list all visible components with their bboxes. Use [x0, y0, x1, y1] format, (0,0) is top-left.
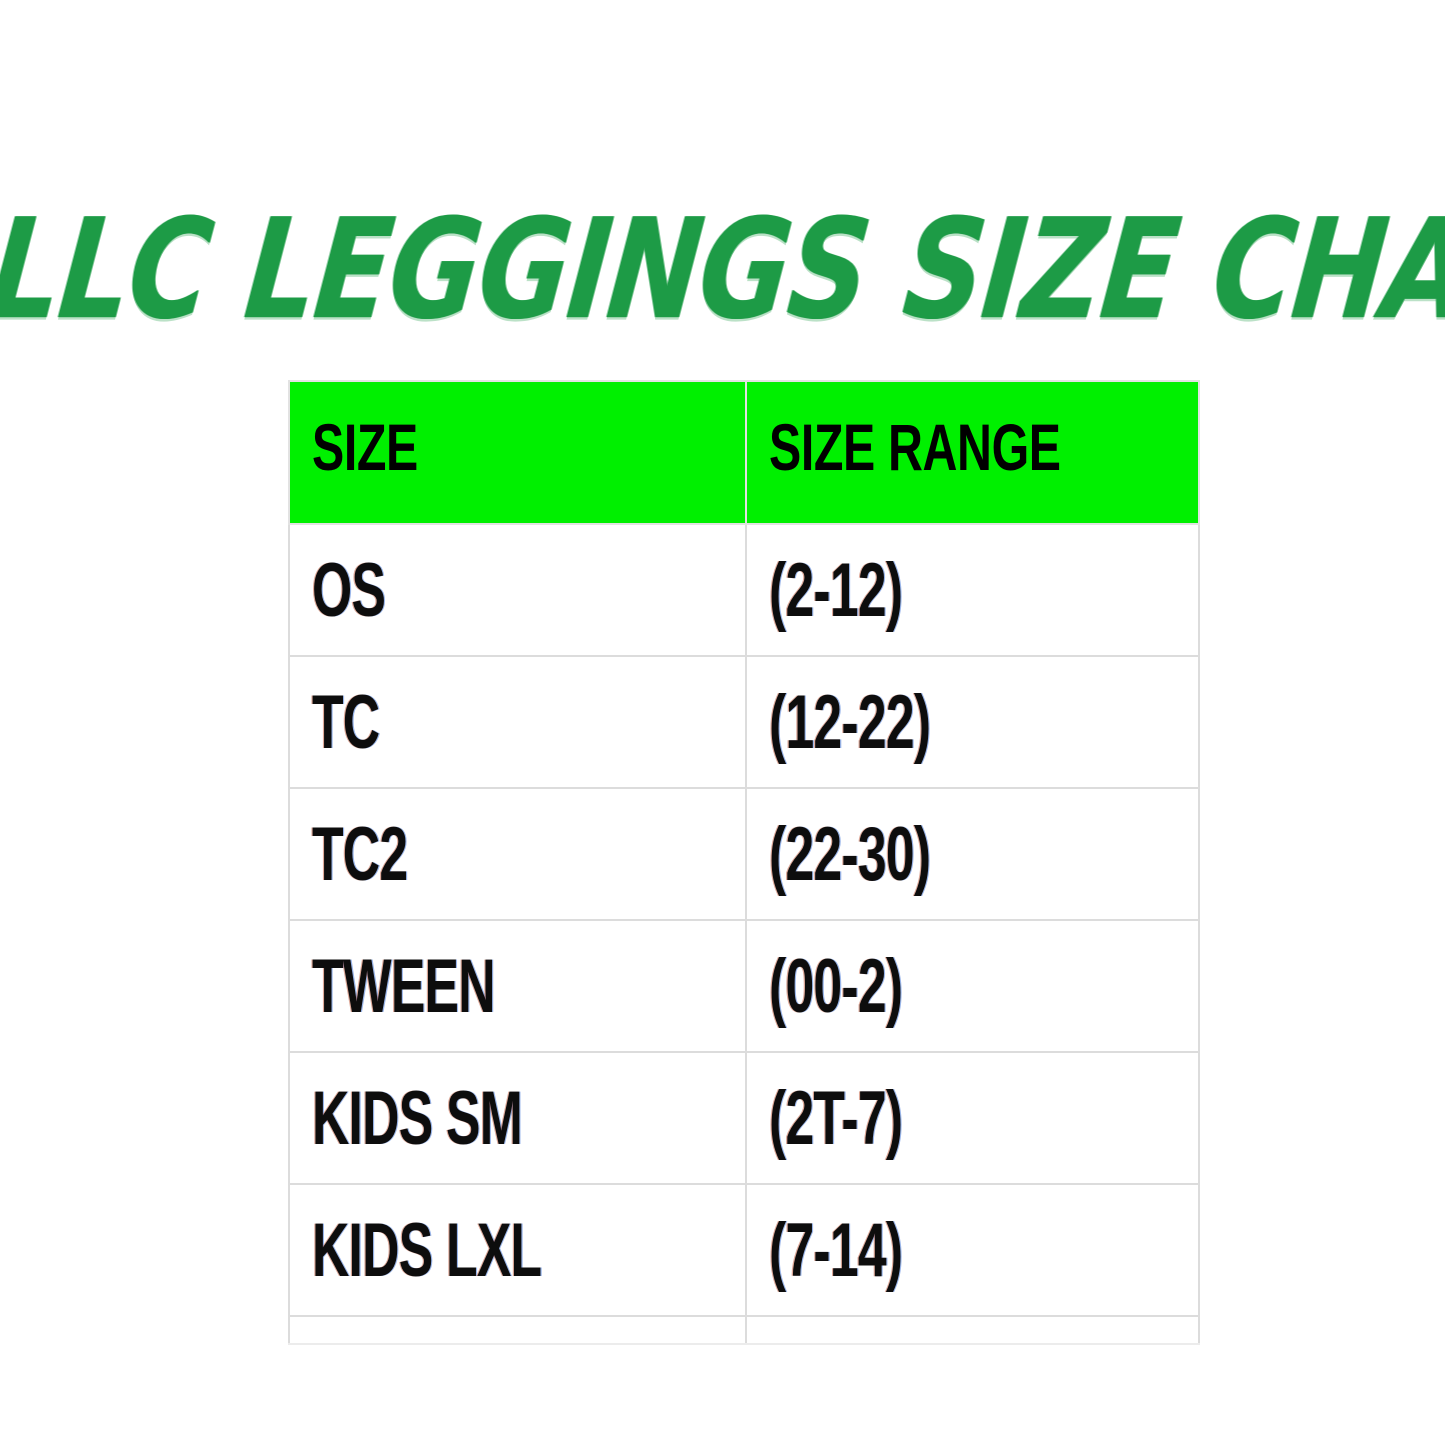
- cell-size-range: (22-30): [746, 788, 1199, 920]
- column-header-size-range: SIZE RANGE: [746, 381, 1199, 524]
- page-title: GCLLC LEGGINGS SIZE CHART: [0, 201, 1445, 339]
- cell-size: TWEEN: [289, 920, 746, 1052]
- table-row: TC2 (22-30): [289, 788, 1199, 920]
- table-row: OS (2-12): [289, 524, 1199, 656]
- column-header-size-label: SIZE: [312, 416, 418, 482]
- table-header-row: SIZE SIZE RANGE: [289, 381, 1199, 524]
- cell-size: TC: [289, 656, 746, 788]
- title-block: GCLLC LEGGINGS SIZE CHART: [0, 178, 1445, 363]
- cell-size-range: (00-2): [746, 920, 1199, 1052]
- size-label: KIDS LXL: [312, 1212, 541, 1288]
- column-header-size-range-label: SIZE RANGE: [769, 416, 1061, 482]
- table-row: TC (12-22): [289, 656, 1199, 788]
- table-body: OS (2-12) TC (12-22) TC2 (22-30) TWEEN (…: [289, 524, 1199, 1344]
- table-row: TWEEN (00-2): [289, 920, 1199, 1052]
- size-range-label: (2-12): [769, 552, 902, 628]
- size-range-label: (00-2): [769, 948, 902, 1024]
- size-range-label: (7-14): [769, 1212, 902, 1288]
- table-row: KIDS LXL (7-14): [289, 1184, 1199, 1316]
- size-chart-table: SIZE SIZE RANGE OS (2-12) TC (12-22) TC2…: [288, 380, 1200, 1345]
- cell-size: KIDS LXL: [289, 1184, 746, 1316]
- size-label: TC2: [312, 816, 407, 892]
- size-label: KIDS SM: [312, 1080, 522, 1156]
- table-row-clipped: [289, 1316, 1199, 1344]
- column-header-size: SIZE: [289, 381, 746, 524]
- table-row: KIDS SM (2T-7): [289, 1052, 1199, 1184]
- cell-size-range: (7-14): [746, 1184, 1199, 1316]
- size-chart-page: GCLLC LEGGINGS SIZE CHART SIZE SIZE RANG…: [0, 0, 1445, 1445]
- cell-size: TC2: [289, 788, 746, 920]
- cell-size-empty: [289, 1316, 746, 1344]
- cell-size-range: (2T-7): [746, 1052, 1199, 1184]
- size-range-label: (22-30): [769, 816, 930, 892]
- table-header: SIZE SIZE RANGE: [289, 381, 1199, 524]
- size-range-label: (2T-7): [769, 1080, 902, 1156]
- size-label: TWEEN: [312, 948, 495, 1024]
- size-label: TC: [312, 684, 379, 760]
- cell-size-range: (2-12): [746, 524, 1199, 656]
- cell-size-range: (12-22): [746, 656, 1199, 788]
- size-range-label: (12-22): [769, 684, 930, 760]
- size-label: OS: [312, 552, 385, 628]
- cell-size: OS: [289, 524, 746, 656]
- cell-size: KIDS SM: [289, 1052, 746, 1184]
- cell-size-range-empty: [746, 1316, 1199, 1344]
